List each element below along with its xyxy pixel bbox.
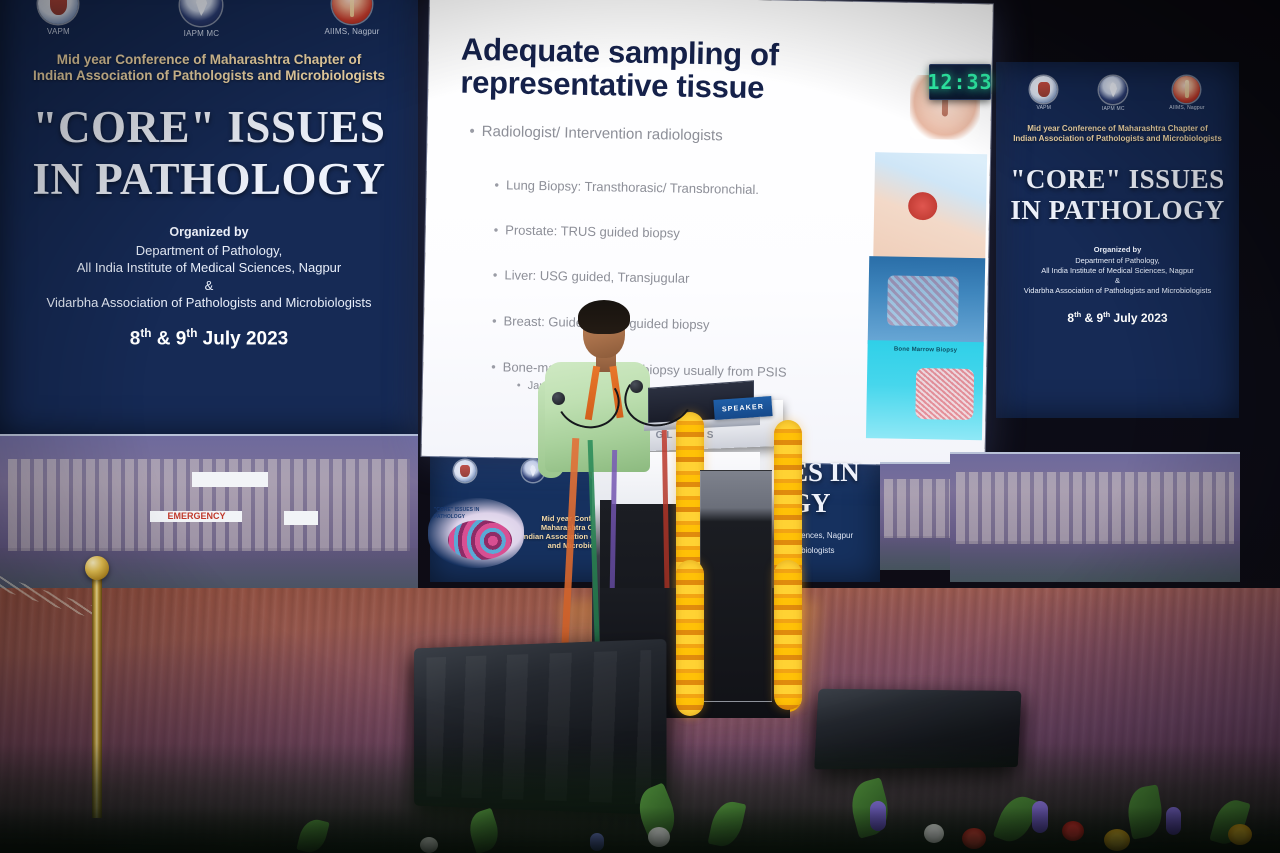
banner-left-logos: VAPM IAPM MC AIIMS, Nagpur	[0, 0, 418, 38]
vapm-emblem-icon	[1030, 76, 1057, 103]
date-amp: & 9	[157, 329, 187, 350]
date-sup-1: th	[1074, 310, 1081, 319]
stanchion-ball-finial-icon	[85, 556, 109, 580]
org-line-4: Vidarbha Association of Pathologists and…	[1004, 286, 1231, 296]
slide-image-bone-marrow-diagram: Bone Marrow Biopsy	[866, 340, 984, 440]
slide-image-clinical-procedure-photo	[868, 256, 986, 346]
banner-left-organized-label: Organized by	[0, 225, 418, 239]
vapm-emblem-icon	[38, 0, 78, 24]
speaker-sign-label: SPEAKER	[722, 403, 765, 413]
logo-caption: VAPM	[47, 27, 70, 36]
slide-bullet-3: Prostate: TRUS guided biopsy	[494, 222, 680, 240]
org-line-4: Vidarbha Association of Pathologists and…	[10, 294, 408, 311]
banner-right-date: 8th & 9th July 2023	[996, 310, 1239, 325]
logo-vapm: VAPM	[38, 0, 78, 36]
date-sup-2: th	[1103, 310, 1110, 319]
title-line-1: "CORE" ISSUES	[0, 105, 418, 151]
org-line-3: &	[1004, 276, 1231, 286]
countdown-timer: 12:33	[929, 64, 991, 100]
subtitle-line-1: Mid year Conference of Maharashtra Chapt…	[1006, 124, 1229, 134]
foreground-shadow	[0, 807, 1280, 853]
logo-aiims-nagpur: AIIMS, Nagpur	[1169, 76, 1204, 111]
banner-left-building-photo: EMERGENCY	[0, 434, 418, 600]
banner-left-subtitle: Mid year Conference of Maharashtra Chapt…	[0, 52, 418, 85]
iapm-emblem-icon	[1099, 76, 1127, 104]
marigold-garland-left-front	[676, 560, 704, 716]
banner-right-organized-label: Organized by	[996, 245, 1239, 254]
timer-value: 12:33	[927, 70, 992, 94]
presenter-hair	[578, 300, 630, 334]
conference-stage-photo: VAPM IAPM MC AIIMS, Nagpur Mid year Conf…	[0, 0, 1280, 853]
org-line-2: All India Institute of Medical Sciences,…	[10, 259, 408, 276]
podium-side-panel-front	[700, 470, 772, 702]
banner-center-title-fragment: ES IN GY	[790, 458, 910, 518]
banner-center-org-fragment: Sciences, Nagpur crobiologists	[790, 528, 920, 558]
date-rest: July 2023	[1114, 311, 1168, 325]
slide-title: Adequate sampling of representative tiss…	[460, 33, 931, 109]
banner-right-logos: VAPM IAPM MC AIIMS, Nagpur	[996, 62, 1239, 112]
banner-right: VAPM IAPM MC AIIMS, Nagpur Mid year Conf…	[996, 62, 1239, 418]
org-line-3: &	[10, 277, 408, 294]
subtitle-line-2: Indian Association of Pathologists and M…	[14, 68, 404, 84]
banner-right-subtitle: Mid year Conference of Maharashtra Chapt…	[996, 124, 1239, 144]
slide-bullet-2: Lung Biopsy: Transthorasic/ Transbronchi…	[494, 177, 759, 197]
org-fragment-1: Sciences, Nagpur	[790, 528, 920, 543]
slide-image-needle-biopsy-illustration	[873, 152, 987, 270]
title-line-2: IN PATHOLOGY	[996, 197, 1239, 225]
banner-left-title: "CORE" ISSUES IN PATHOLOGY	[0, 105, 418, 203]
org-fragment-2: crobiologists	[790, 543, 920, 558]
core-biopsy-graphic-icon	[448, 520, 512, 560]
building-sign-ipd	[284, 511, 317, 524]
date-rest: July 2023	[203, 329, 289, 350]
logo-aiims-nagpur: AIIMS, Nagpur	[324, 0, 379, 36]
org-line-2: All India Institute of Medical Sciences,…	[1004, 266, 1231, 276]
slide-bullet-1: Radiologist/ Intervention radiologists	[469, 123, 723, 145]
logo-iapm-mc: IAPM MC	[1099, 76, 1127, 112]
aiims-emblem-icon	[332, 0, 372, 24]
date-sup-1: th	[140, 327, 151, 340]
org-line-1: Department of Pathology,	[10, 242, 408, 259]
slide-image-label: Bone Marrow Biopsy	[868, 346, 984, 354]
speaker-sign: SPEAKER	[713, 396, 772, 420]
banner-center-pathology-badge: "CORE" ISSUES IN PATHOLOGY	[428, 498, 524, 568]
org-line-1: Department of Pathology,	[1004, 256, 1231, 266]
iapm-emblem-icon	[180, 0, 222, 26]
building-emergency-sign: EMERGENCY	[150, 511, 242, 522]
banner-left: VAPM IAPM MC AIIMS, Nagpur Mid year Conf…	[0, 0, 418, 434]
subtitle-line-2: Indian Association of Pathologists and M…	[1006, 134, 1229, 144]
building-sign-top	[192, 472, 267, 487]
microphone-head-right	[630, 380, 643, 393]
microphone-head-left	[552, 392, 565, 405]
title-line-2: IN PATHOLOGY	[0, 157, 418, 203]
date-amp: & 9	[1084, 311, 1103, 325]
logo-caption: VAPM	[1036, 105, 1051, 111]
logo-vapm: VAPM	[1030, 76, 1057, 111]
title-fragment-1: ES IN	[790, 458, 910, 487]
date-day-1: 8	[130, 329, 141, 350]
slide-bullet-4: Liver: USG guided, Transjugular	[493, 267, 690, 286]
logo-caption: IAPM MC	[184, 29, 220, 38]
subtitle-line-1: Mid year Conference of Maharashtra Chapt…	[14, 52, 404, 68]
logo-caption: IAPM MC	[1102, 106, 1125, 112]
date-sup-2: th	[186, 327, 197, 340]
banner-right-title: "CORE" ISSUES IN PATHOLOGY	[996, 166, 1239, 225]
banner-right-building-photo	[950, 452, 1240, 582]
marigold-garland-right-front	[774, 560, 802, 710]
vapm-emblem-icon	[454, 460, 476, 482]
logo-caption: AIIMS, Nagpur	[324, 27, 379, 36]
banner-left-organizers: Department of Pathology, All India Insti…	[0, 242, 418, 312]
title-line-1: "CORE" ISSUES	[996, 166, 1239, 194]
banner-left-date: 8th & 9th July 2023	[0, 327, 418, 350]
logo-iapm-mc: IAPM MC	[180, 0, 222, 38]
title-fragment-2: GY	[790, 489, 910, 518]
aiims-emblem-icon	[1173, 76, 1200, 103]
banner-right-organizers: Department of Pathology, All India Insti…	[996, 256, 1239, 296]
logo-caption: AIIMS, Nagpur	[1169, 105, 1204, 111]
badge-label: "CORE" ISSUES IN PATHOLOGY	[434, 507, 479, 520]
